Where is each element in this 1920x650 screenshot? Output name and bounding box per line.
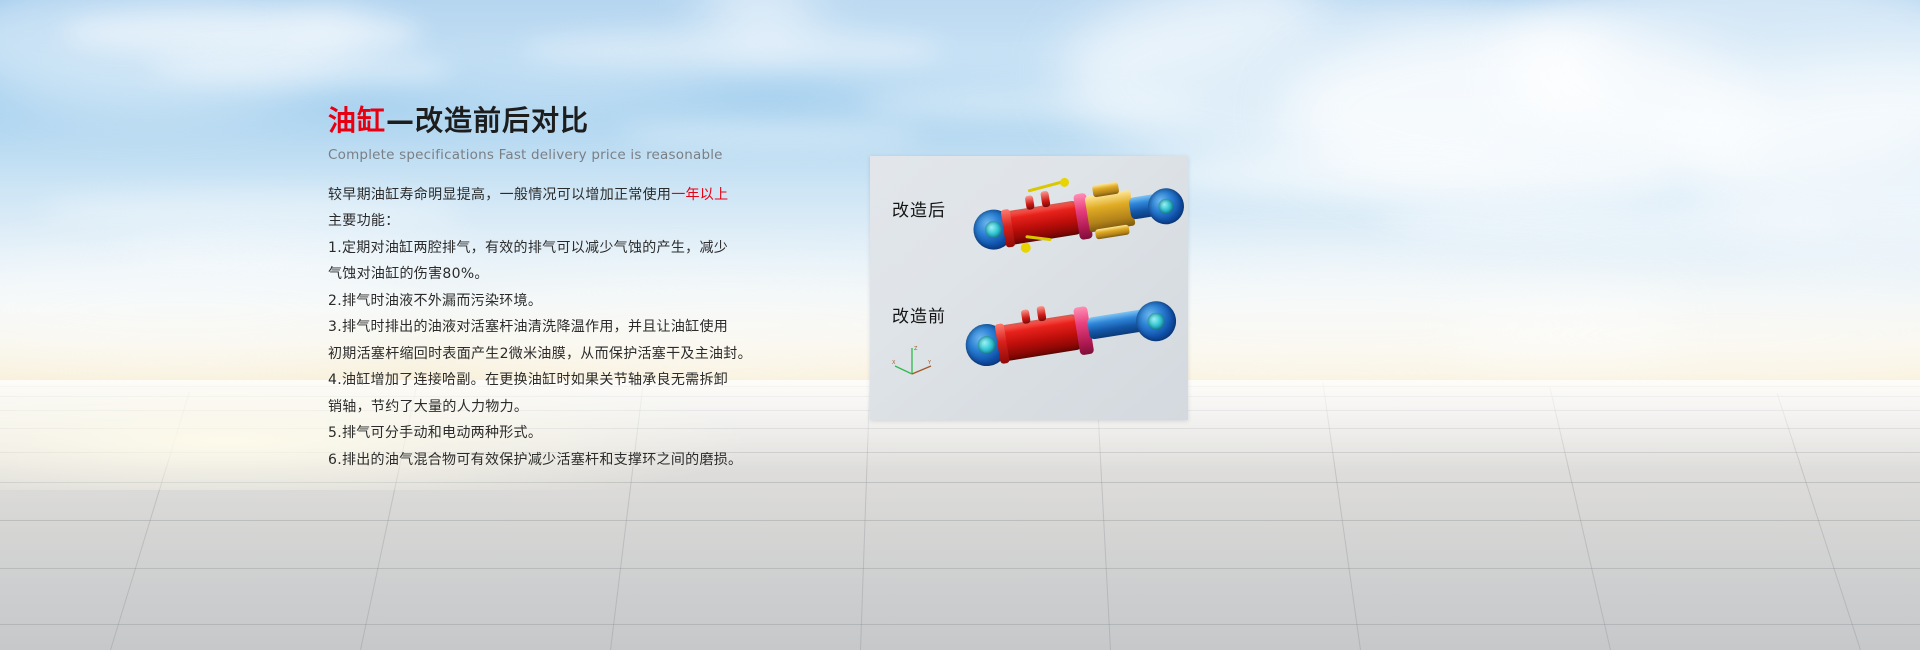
description-text: 较早期油缸寿命明显提高，一般情况可以增加正常使用 [328, 187, 671, 203]
description-line: 销轴，节约了大量的人力物力。 [328, 394, 758, 421]
description-line: 3.排气时排出的油液对活塞杆油清洗降温作用，并且让油缸使用 [328, 314, 758, 341]
description-line: 2.排气时油液不外漏而污染环境。 [328, 288, 758, 315]
hero-content: 油缸—改造前后对比 Complete specifications Fast d… [328, 104, 758, 473]
svg-text:X: X [892, 360, 896, 366]
label-after: 改造后 [892, 196, 946, 221]
product-comparison-image: 改造后 改造前 Z X Y [870, 156, 1188, 420]
hero-banner: 油缸—改造前后对比 Complete specifications Fast d… [0, 0, 1920, 650]
coordinate-axis-icon: Z X Y [892, 344, 934, 378]
oil-port-b [1040, 191, 1050, 208]
page-title-rest: —改造前后对比 [386, 104, 589, 137]
page-title: 油缸—改造前后对比 [328, 104, 758, 138]
oil-port-a [1021, 309, 1031, 324]
feature-description: 较早期油缸寿命明显提高，一般情况可以增加正常使用一年以上 主要功能： 1.定期对… [328, 182, 758, 474]
svg-text:Z: Z [914, 346, 918, 352]
bleed-valve-knob [1059, 177, 1069, 187]
description-line: 5.排气可分手动和电动两种形式。 [328, 420, 758, 447]
page-subtitle: Complete specifications Fast delivery pr… [328, 147, 758, 163]
description-line: 较早期油缸寿命明显提高，一般情况可以增加正常使用一年以上 [328, 182, 758, 209]
description-line: 1.定期对油缸两腔排气，有效的排气可以减少气蚀的产生，减少 [328, 235, 758, 262]
rod-end-eye [1145, 186, 1186, 227]
label-before: 改造前 [892, 302, 946, 327]
description-line: 4.油缸增加了连接哈副。在更换油缸时如果关节轴承良无需拆卸 [328, 367, 758, 394]
svg-text:Y: Y [927, 360, 932, 366]
description-highlight: 一年以上 [671, 187, 728, 203]
rod-end-eye [1133, 298, 1179, 344]
description-line: 初期活塞杆缩回时表面产生2微米油膜，从而保护活塞干及主油封。 [328, 341, 758, 368]
tiled-floor [0, 380, 1920, 650]
description-line: 气蚀对油缸的伤害80%。 [328, 261, 758, 288]
oil-port-a [1025, 195, 1035, 210]
oil-port-b [1036, 306, 1046, 322]
page-title-highlight: 油缸 [328, 104, 386, 137]
description-line: 6.排出的油气混合物可有效保护减少活塞杆和支撑环之间的磨损。 [328, 447, 758, 474]
bleed-valve-knob-lower [1020, 242, 1031, 253]
description-line: 主要功能： [328, 208, 758, 235]
